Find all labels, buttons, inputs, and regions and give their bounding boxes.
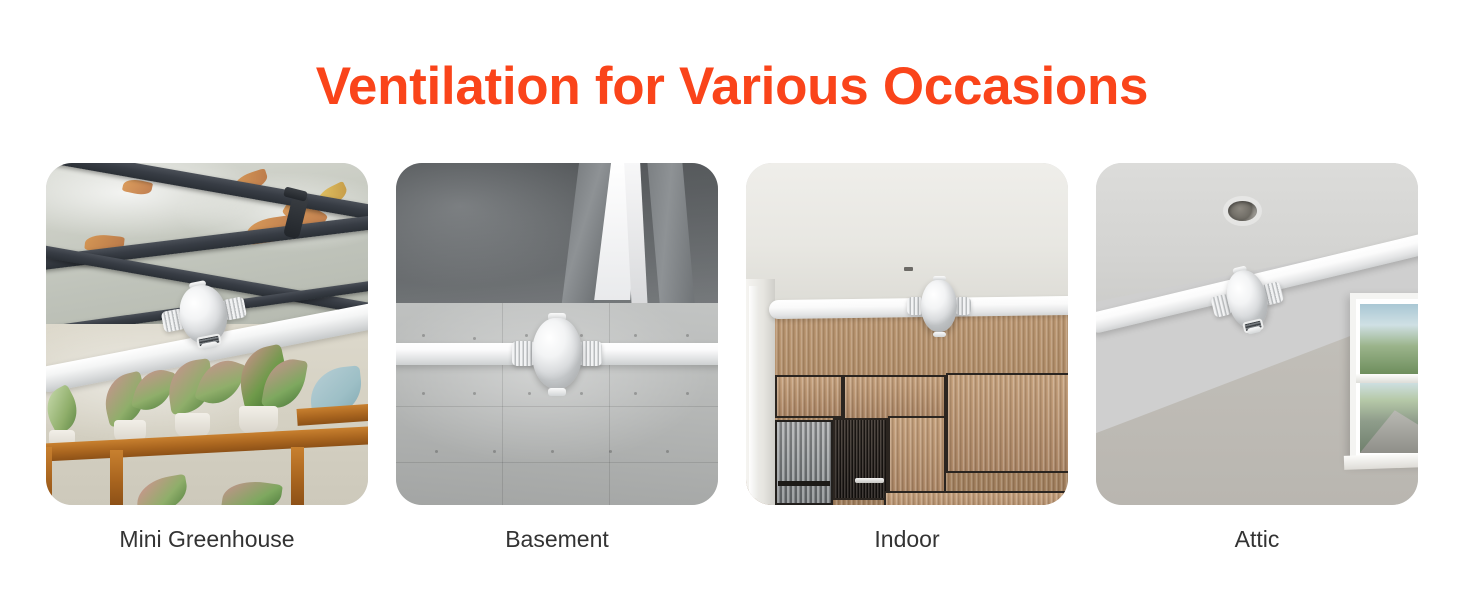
bench-leg	[291, 447, 304, 505]
attic-scene	[1096, 163, 1418, 505]
fan-housing	[532, 318, 582, 389]
ceiling-sensor-icon	[904, 267, 914, 271]
concrete-tie-hole	[435, 450, 438, 453]
fan-mount-tab	[933, 332, 946, 338]
card-caption: Mini Greenhouse	[119, 525, 294, 555]
fan-duct-collar-right	[579, 341, 602, 366]
concrete-panel-seam	[396, 462, 718, 463]
cabinet-panel	[843, 375, 946, 421]
indoor-scene	[746, 163, 1068, 505]
cabinet-panel	[946, 373, 1068, 472]
occasion-card[interactable]: Indoor	[746, 163, 1068, 555]
occasion-card-grid: Mini Greenhouse	[46, 163, 1418, 555]
refrigerator	[775, 420, 833, 506]
concrete-tie-hole	[686, 334, 689, 337]
card-caption: Basement	[505, 525, 609, 555]
greenhouse-scene	[46, 163, 368, 505]
ceiling-vent-icon	[1228, 201, 1257, 222]
occasion-card[interactable]: Mini Greenhouse	[46, 163, 368, 555]
concrete-tie-hole	[551, 450, 554, 453]
window-frame	[1350, 293, 1418, 464]
indoor-image[interactable]	[746, 163, 1068, 505]
page-title: Ventilation for Various Occasions	[0, 58, 1464, 116]
promo-banner: Ventilation for Various Occasions	[0, 0, 1464, 600]
cabinet-panel	[833, 418, 888, 500]
plant-pot	[175, 413, 210, 437]
cabinet-panel	[888, 416, 946, 498]
bench-leg	[110, 450, 123, 505]
greenhouse-image[interactable]	[46, 163, 368, 505]
occasion-card[interactable]: Attic	[1096, 163, 1418, 555]
window-muntin	[1356, 374, 1418, 384]
fan-housing	[921, 280, 957, 333]
basement-scene	[396, 163, 718, 505]
door-frame	[749, 286, 759, 498]
cabinet-panel	[775, 375, 843, 418]
card-caption: Indoor	[874, 525, 939, 555]
concrete-panel-seam	[609, 303, 610, 505]
basement-image[interactable]	[396, 163, 718, 505]
cabinet-panel	[884, 491, 1068, 505]
attic-image[interactable]	[1096, 163, 1418, 505]
inline-duct-fan	[907, 276, 971, 338]
plant-pot	[239, 406, 278, 433]
cabinet-handle	[855, 478, 884, 483]
fan-duct-collar-right	[955, 297, 972, 315]
concrete-panel-seam	[502, 303, 503, 505]
card-caption: Attic	[1235, 525, 1280, 555]
window-glass-upper	[1360, 304, 1418, 374]
concrete-tie-hole	[493, 450, 496, 453]
concrete-panel-seam	[396, 406, 718, 407]
concrete-tie-hole	[609, 450, 612, 453]
fan-mount-tab	[548, 388, 566, 395]
occasion-card[interactable]: Basement	[396, 163, 718, 555]
bench-leg	[46, 447, 52, 505]
window-glass-lower	[1360, 382, 1418, 454]
inline-duct-fan	[512, 313, 602, 395]
concrete-tie-hole	[422, 392, 425, 395]
concrete-tie-hole	[686, 392, 689, 395]
neighbouring-roof	[1360, 410, 1418, 453]
concrete-tie-hole	[422, 334, 425, 337]
appliance-seam	[778, 481, 830, 486]
